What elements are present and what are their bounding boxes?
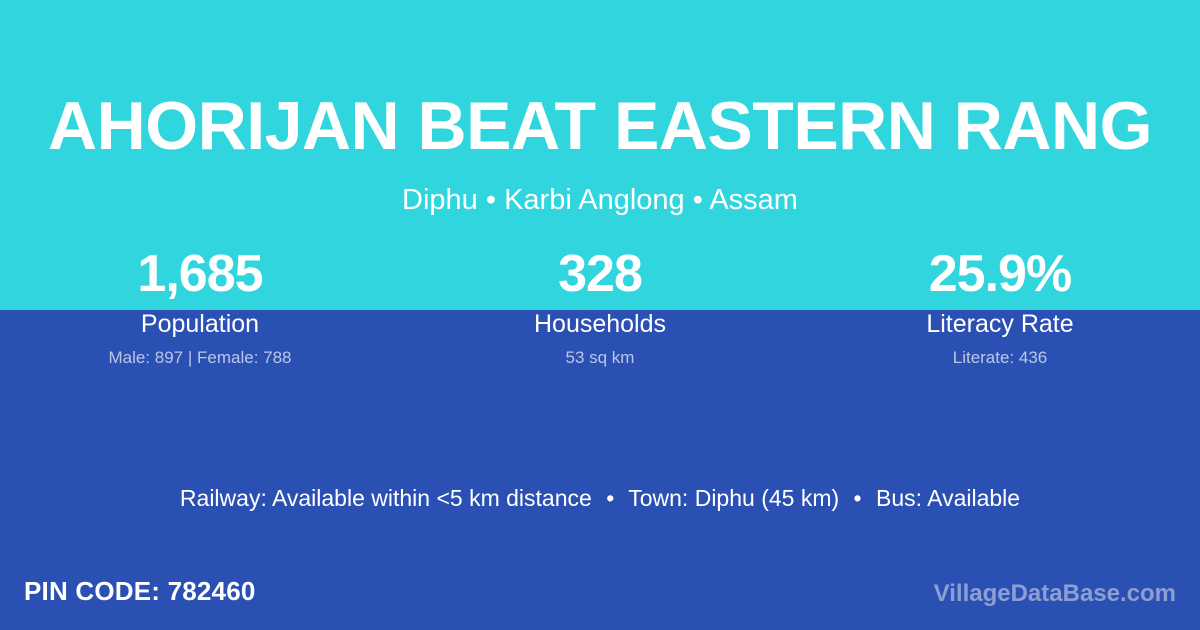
amenity-separator: • bbox=[846, 485, 870, 511]
stats-row: 1,685 Population Male: 897 | Female: 788… bbox=[0, 243, 1200, 371]
stat-value: 328 bbox=[400, 243, 800, 305]
stat-sublabel: Literate: 436 bbox=[800, 345, 1200, 371]
stat-label: Households bbox=[400, 307, 800, 341]
amenity-separator: • bbox=[598, 485, 622, 511]
location-breadcrumb: Diphu • Karbi Anglong • Assam bbox=[0, 180, 1200, 220]
amenities-line: Railway: Available within <5 km distance… bbox=[0, 482, 1200, 514]
amenity-bus: Bus: Available bbox=[876, 485, 1020, 511]
village-info-card: AHORIJAN BEAT EASTERN RANG Diphu • Karbi… bbox=[0, 0, 1200, 630]
stat-sublabel: 53 sq km bbox=[400, 345, 800, 371]
stat-population: 1,685 Population Male: 897 | Female: 788 bbox=[0, 243, 400, 371]
stat-literacy-rate: 25.9% Literacy Rate Literate: 436 bbox=[800, 243, 1200, 371]
site-brand: VillageDataBase.com bbox=[934, 578, 1176, 610]
stat-value: 25.9% bbox=[800, 243, 1200, 305]
stat-sublabel: Male: 897 | Female: 788 bbox=[0, 345, 400, 371]
stat-label: Literacy Rate bbox=[800, 307, 1200, 341]
amenity-town: Town: Diphu (45 km) bbox=[628, 485, 839, 511]
stat-label: Population bbox=[0, 307, 400, 341]
page-title: AHORIJAN BEAT EASTERN RANG bbox=[0, 86, 1200, 166]
stat-households: 328 Households 53 sq km bbox=[400, 243, 800, 371]
pin-code: PIN CODE: 782460 bbox=[24, 574, 256, 608]
stat-value: 1,685 bbox=[0, 243, 400, 305]
amenity-railway: Railway: Available within <5 km distance bbox=[180, 485, 592, 511]
